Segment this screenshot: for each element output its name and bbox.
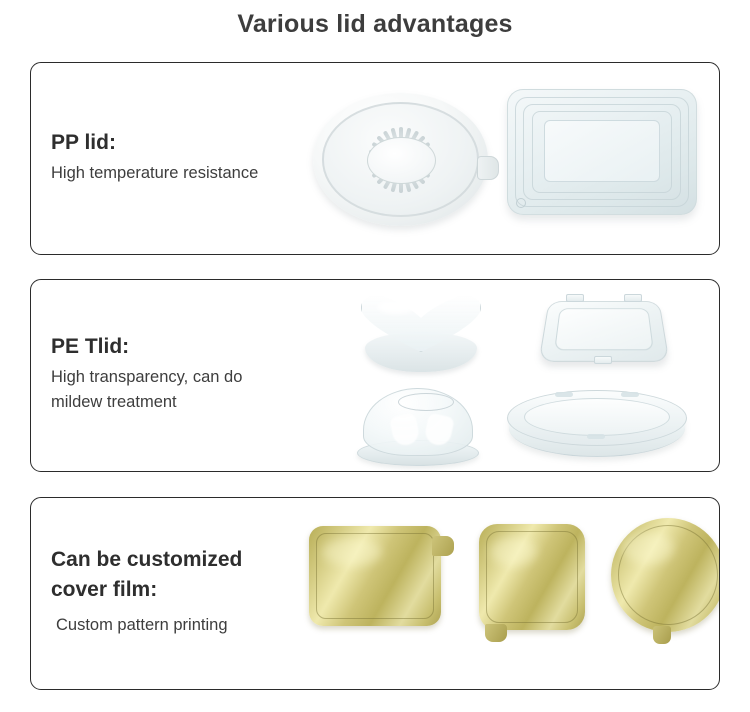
foil-square-pull-tab — [485, 624, 507, 642]
round-pp-lid-image — [313, 93, 488, 226]
foil-rect-pull-tab — [432, 536, 454, 556]
card-pe-artwork — [289, 280, 719, 471]
round-lid-center-hub — [367, 137, 436, 184]
rect-lid-corner-mark — [516, 198, 526, 208]
rect-lid-panel — [544, 120, 660, 182]
square-pe-lid-image — [544, 296, 664, 370]
oval-pe-lid-image — [507, 390, 687, 462]
heart-shaped-pe-lid-image — [361, 294, 481, 372]
card-pp-lid: PP lid: High temperature resistance — [30, 62, 720, 255]
foil-round-pull-tab — [653, 626, 671, 644]
round-gold-foil-lid-image — [611, 518, 720, 632]
rectangular-pp-lid-image — [507, 89, 697, 215]
square-gold-foil-lid-image — [479, 524, 585, 630]
card-cover-film-artwork — [289, 498, 719, 689]
card-cover-film: Can be customized cover film: Custom pat… — [30, 497, 720, 690]
dome-pe-lid-image — [357, 388, 479, 468]
card-pp-artwork — [289, 63, 719, 254]
page-title: Various lid advantages — [0, 0, 750, 39]
round-lid-tab — [477, 156, 499, 180]
card-pe-lid: PE Tlid: High transparency, can do milde… — [30, 279, 720, 472]
rectangular-gold-foil-lid-image — [309, 526, 441, 626]
